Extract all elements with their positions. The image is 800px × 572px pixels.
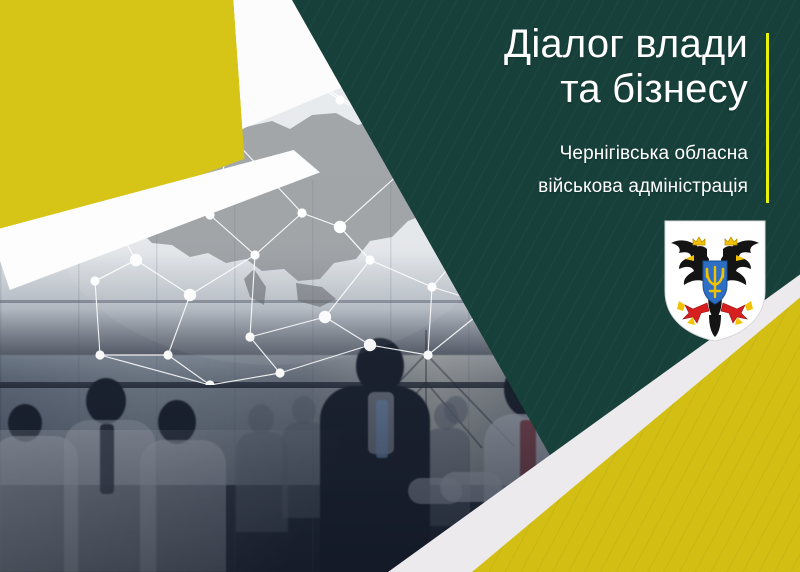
network-node	[275, 368, 284, 377]
poster-subtitle: Чернігівська обласна військова адміністр…	[328, 138, 748, 203]
poster-canvas: Діалог влади та бізнесу Чернігівська обл…	[0, 0, 800, 572]
network-node	[130, 254, 142, 266]
poster-title: Діалог влади та бізнесу	[328, 22, 748, 112]
network-node	[364, 339, 376, 351]
network-node	[427, 282, 436, 291]
network-node	[334, 221, 346, 233]
subtitle-line-1: Чернігівська обласна	[328, 138, 748, 171]
network-node	[423, 350, 432, 359]
chernihiv-coat-of-arms-icon	[663, 219, 767, 343]
network-node	[319, 311, 331, 323]
yellow-accent-rule	[766, 33, 769, 203]
network-node	[245, 332, 254, 341]
network-node	[184, 289, 196, 301]
title-line-2: та бізнесу	[328, 67, 748, 112]
network-node	[365, 255, 374, 264]
network-edge	[210, 373, 280, 385]
network-edge	[370, 345, 428, 355]
network-node	[95, 350, 104, 359]
network-edge	[168, 355, 210, 385]
network-node	[297, 208, 306, 217]
network-node	[163, 350, 172, 359]
subtitle-line-2: військова адміністрація	[328, 171, 748, 204]
network-node	[250, 250, 259, 259]
network-edge	[100, 355, 210, 385]
title-line-1: Діалог влади	[328, 22, 748, 67]
network-node	[205, 380, 214, 385]
network-node	[90, 276, 99, 285]
